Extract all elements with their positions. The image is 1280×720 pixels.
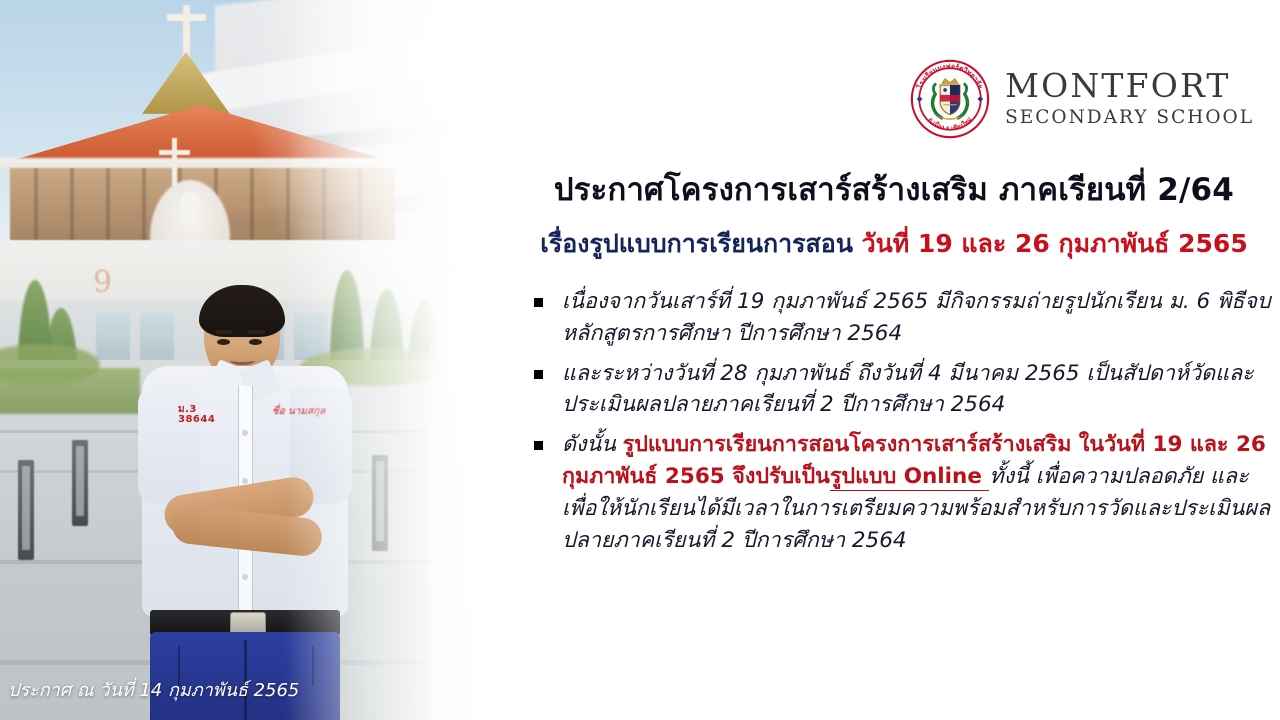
roof-cross-icon-bar [167, 14, 206, 21]
content-area: ประกาศโครงการเสาร์สร้างเสริม ภาคเรียนที่… [500, 0, 1280, 720]
bullet-text: เนื่องจากวันเสาร์ที่ 19 กุมภาพันธ์ 2565 … [562, 289, 1271, 346]
announcement-slide: 9 [0, 0, 1280, 720]
bullet-square-icon [534, 298, 543, 307]
list-item: เนื่องจากวันเสาร์ที่ 19 กุมภาพันธ์ 2565 … [528, 286, 1280, 350]
hair [199, 285, 285, 337]
list-item: และระหว่างวันที่ 28 กุมภาพันธ์ ถึงวันที่… [528, 358, 1280, 422]
uniform-badge-id: 38644 [178, 414, 215, 425]
school-photo: 9 [0, 0, 500, 720]
bullet-square-icon [534, 441, 543, 450]
bullet-square-icon [534, 370, 543, 379]
bullet-text-online-underlined: รูปแบบ Online [830, 464, 990, 491]
uniform-badge-name: ชื่อ นามสกุล [272, 404, 325, 419]
statue-cross-icon-bar [159, 150, 190, 155]
bullet-text-lead: ดังนั้น [562, 432, 623, 457]
angel-statue-head [179, 192, 201, 216]
bullet-text: และระหว่างวันที่ 28 กุมภาพันธ์ ถึงวันที่… [562, 361, 1254, 418]
subtitle-navy-text: เรื่องรูปแบบการเรียนการสอน [540, 229, 861, 258]
list-item: ดังนั้น รูปแบบการเรียนการสอนโครงการเสาร์… [528, 429, 1280, 556]
photo-caption: ประกาศ ณ วันที่ 14 กุมภาพันธ์ 2565 [8, 675, 299, 704]
student-figure: ม.3 38644 ชื่อ นามสกุล [120, 290, 370, 720]
bullet-list: เนื่องจากวันเสาร์ที่ 19 กุมภาพันธ์ 2565 … [528, 286, 1280, 565]
page-title: ประกาศโครงการเสาร์สร้างเสริม ภาคเรียนที่… [518, 172, 1270, 209]
mouth [230, 356, 255, 365]
building-number: 9 [93, 265, 112, 300]
statue-cross-icon [172, 138, 177, 186]
photo-panel: 9 [0, 0, 500, 720]
page-subtitle: เรื่องรูปแบบการเรียนการสอน วันที่ 19 และ… [518, 228, 1270, 259]
subtitle-red-text: วันที่ 19 และ 26 กุมภาพันธ์ 2565 [862, 229, 1248, 258]
